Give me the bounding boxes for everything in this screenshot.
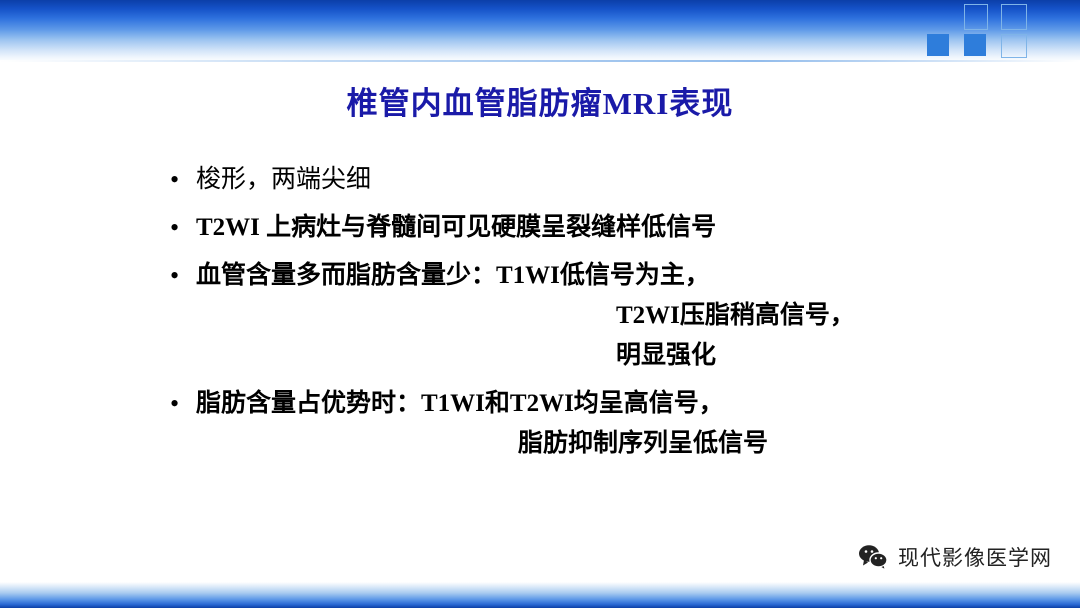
list-item: • 血管含量多而脂肪含量少：T1WI低信号为主， T2WI压脂稍高信号， 明显强… (170, 256, 1000, 376)
list-item-text: 梭形，两端尖细 (196, 160, 371, 200)
bullet-list: • 梭形，两端尖细 • T2WI 上病灶与脊髓间可见硬膜呈裂缝样低信号 • 血管… (170, 160, 1000, 472)
page-title: 椎管内血管脂肪瘤MRI表现 (0, 78, 1080, 123)
list-item-subline: 明显强化 (616, 336, 855, 376)
decoration-square-5 (1001, 34, 1027, 58)
decoration-square-4 (1001, 4, 1027, 30)
list-item-subline: T2WI压脂稍高信号， (616, 296, 855, 336)
list-item: • 脂肪含量占优势时：T1WI和T2WI均呈高信号， 脂肪抑制序列呈低信号 (170, 384, 1000, 464)
presentation-slide: 椎管内血管脂肪瘤MRI表现 • 梭形，两端尖细 • T2WI 上病灶与脊髓间可见… (0, 0, 1080, 608)
decoration-square-2 (964, 34, 986, 56)
bottom-banner (0, 582, 1080, 608)
list-item: • 梭形，两端尖细 (170, 160, 1000, 200)
bullet-point-icon: • (170, 384, 196, 424)
top-banner (0, 0, 1080, 62)
bullet-point-icon: • (170, 256, 196, 296)
bullet-point-icon: • (170, 208, 196, 248)
decoration-square-3 (964, 4, 988, 30)
list-item-text: 脂肪含量占优势时：T1WI和T2WI均呈高信号， (196, 384, 768, 424)
list-item-text: T2WI 上病灶与脊髓间可见硬膜呈裂缝样低信号 (196, 208, 716, 248)
decoration-square-1 (927, 34, 949, 56)
watermark-label: 现代影像医学网 (898, 542, 1052, 572)
list-item: • T2WI 上病灶与脊髓间可见硬膜呈裂缝样低信号 (170, 208, 1000, 248)
wechat-icon (858, 544, 888, 570)
list-item-text: 血管含量多而脂肪含量少：T1WI低信号为主， (196, 256, 855, 296)
bullet-point-icon: • (170, 160, 196, 200)
watermark: 现代影像医学网 (858, 542, 1052, 572)
list-item-subline: 脂肪抑制序列呈低信号 (518, 424, 768, 464)
top-banner-highlight (0, 60, 1080, 62)
